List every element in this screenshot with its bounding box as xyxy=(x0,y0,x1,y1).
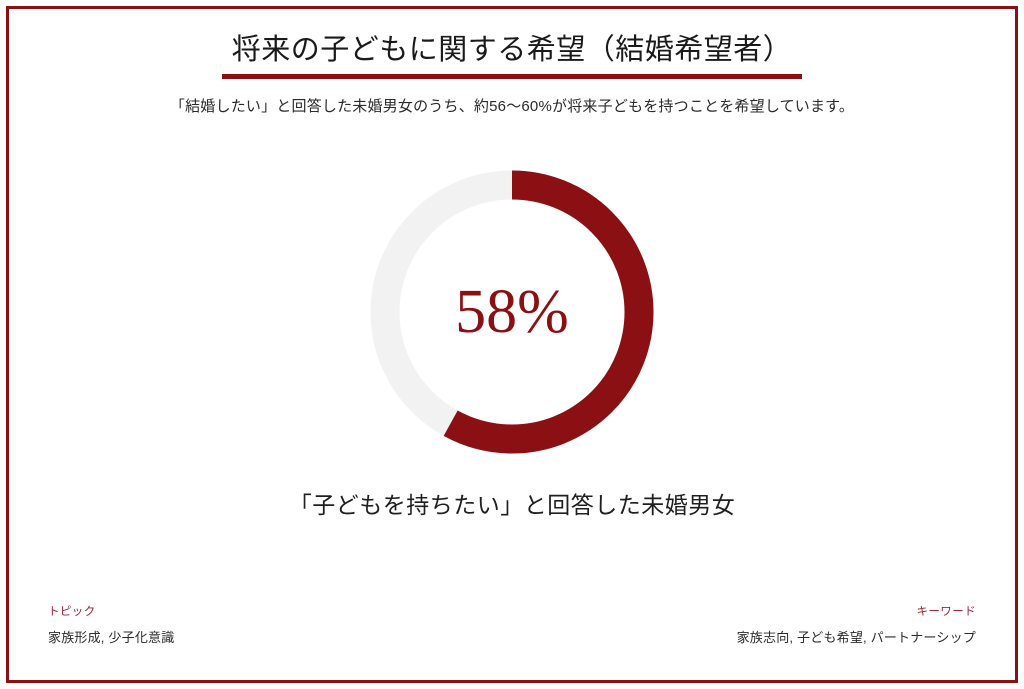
footer-keyword-block: キーワード 家族志向, 子ども希望, パートナーシップ xyxy=(737,604,976,647)
chart-caption: 「子どもを持ちたい」と回答した未婚男女 xyxy=(0,491,1024,521)
footer-topic-label: トピック xyxy=(48,604,174,620)
footer-topic-block: トピック 家族形成, 少子化意識 xyxy=(48,604,174,647)
slide-content: 将来の子どもに関する希望（結婚希望者） 「結婚したい」と回答した未婚男女のうち、… xyxy=(0,0,1024,689)
footer-topic-text: 家族形成, 少子化意識 xyxy=(48,629,174,647)
donut-chart-svg xyxy=(370,170,654,454)
footer-keyword-text: 家族志向, 子ども希望, パートナーシップ xyxy=(737,629,976,647)
footer: トピック 家族形成, 少子化意識 キーワード 家族志向, 子ども希望, パートナ… xyxy=(48,604,976,647)
footer-keyword-label: キーワード xyxy=(737,604,976,620)
page-title: 将来の子どもに関する希望（結婚希望者） xyxy=(222,34,803,79)
donut-chart-area: 58% xyxy=(0,170,1024,458)
page-title-container: 将来の子どもに関する希望（結婚希望者） xyxy=(0,34,1024,79)
donut-chart: 58% xyxy=(370,170,654,454)
slide-root: 将来の子どもに関する希望（結婚希望者） 「結婚したい」と回答した未婚男女のうち、… xyxy=(0,0,1024,689)
page-subtitle: 「結婚したい」と回答した未婚男女のうち、約56〜60%が将来子どもを持つことを希… xyxy=(0,96,1024,119)
